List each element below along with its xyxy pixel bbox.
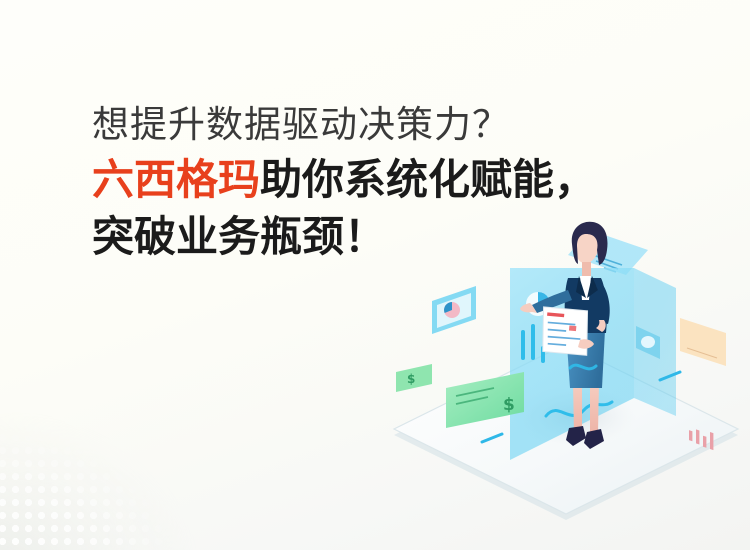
headline-line-2: 六西格玛助你系统化赋能， — [92, 151, 692, 208]
headline-line-2-rest: 助你系统化赋能， — [260, 155, 596, 204]
headline-line-3: 突破业务瓶颈！ — [92, 208, 692, 265]
card-pie-chart-left — [432, 286, 476, 334]
banknote-dollar-symbol: $ — [407, 372, 415, 386]
leg-left — [573, 382, 582, 434]
headline-block: 想提升数据驱动决策力？ 六西格玛助你系统化赋能， 突破业务瓶颈！ — [92, 100, 692, 265]
halftone-field — [0, 340, 300, 550]
leg-right — [590, 382, 599, 436]
banknote-small: $ — [396, 364, 432, 392]
headline-line-1: 想提升数据驱动决策力？ — [92, 100, 692, 149]
halftone-dot-pattern — [0, 340, 300, 550]
headline-highlight: 六西格玛 — [92, 155, 260, 204]
illustration-isometric-analytics: $ $ — [390, 220, 750, 550]
cheque-dollar-symbol: $ — [503, 395, 515, 415]
promo-banner: 想提升数据驱动决策力？ 六西格玛助你系统化赋能， 突破业务瓶颈！ — [0, 0, 750, 550]
